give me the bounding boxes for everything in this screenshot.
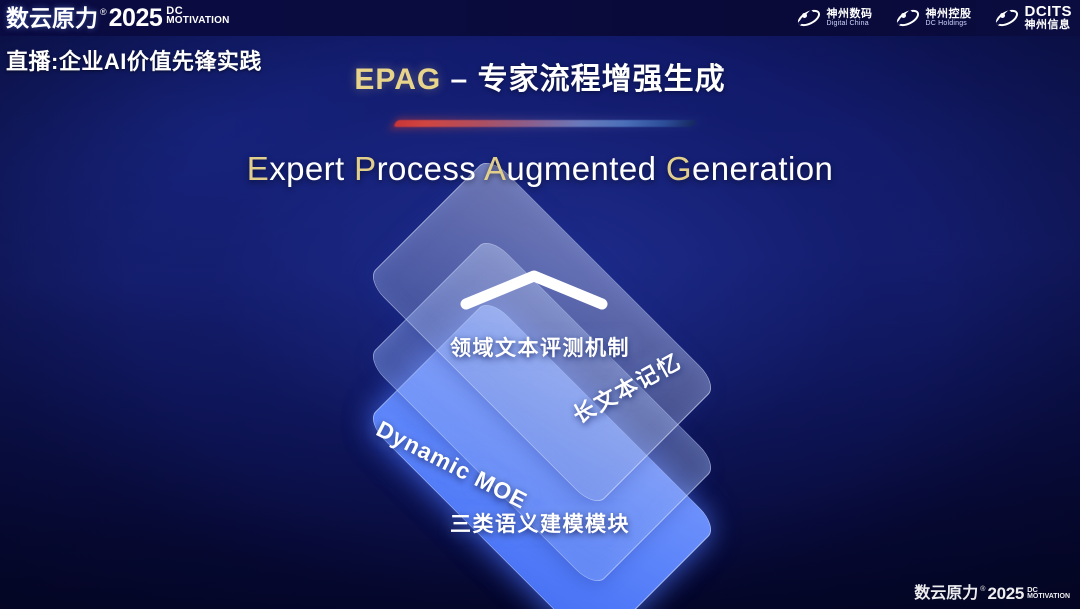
chevron-up-icon [460,268,608,310]
subtitle-rest-process: rocess [377,150,477,187]
subtitle-rest-augmented: ugmented [506,150,656,187]
swoosh-logo-icon [895,7,921,29]
partner-dc-holdings: 神州控股 DC Holdings [895,7,972,29]
partner-name-cn: 神州信息 [1025,20,1073,32]
brand-name-cn: 数云原力 [6,4,98,32]
divider [393,120,697,127]
slide-canvas: 数云原力 ® 2025 DC MOTIVATION 直播:企业AI价值先锋实践 … [0,0,1080,609]
brand-logo: 数云原力 ® 2025 DC MOTIVATION [6,4,230,32]
partner-digital-china: 神州数码 Digital China [796,7,873,29]
subtitle-rest-generation: eneration [692,150,833,187]
subtitle-cap-g: G [666,150,692,187]
swoosh-logo-icon [994,7,1020,29]
subtitle-cap-a: A [484,150,506,187]
watermark-name-cn: 数云原力 [914,584,978,603]
layer-label-top: 领域文本评测机制 [0,332,1080,362]
partner-label: 神州数码 Digital China [827,9,873,28]
partner-label: DCITS 神州信息 [1025,4,1073,31]
partner-logo-row: 神州数码 Digital China 神州控股 DC Holdings [796,2,1073,34]
swoosh-logo-icon [796,7,822,29]
watermark-dc-text: DC [1027,586,1070,593]
partner-name-en: Digital China [827,20,873,27]
brand-block: 数云原力 ® 2025 DC MOTIVATION 直播:企业AI价值先锋实践 [0,0,320,92]
headline-title-cn: 专家流程增强生成 [478,63,726,96]
brand-subtitle: 直播:企业AI价值先锋实践 [6,44,262,76]
watermark-motivation-text: MOTIVATION [1027,593,1070,600]
partner-dcits: DCITS 神州信息 [994,4,1073,31]
partner-label: 神州控股 DC Holdings [926,9,972,28]
watermark-year: 2025 [987,584,1024,603]
subtitle-english: Expert Process Augmented Generation [0,150,1080,188]
watermark-dc-motivation: DC MOTIVATION [1027,586,1070,600]
headline-acronym: EPAG [354,63,441,96]
brand-registered-mark: ® [100,6,107,18]
watermark-registered-mark: ® [980,585,985,594]
subtitle-cap-e: E [247,150,269,187]
partner-name-en: DC Holdings [926,20,972,27]
headline-dash: – [441,63,477,96]
partner-name-cn: 神州控股 [926,9,972,21]
subtitle-rest-expert: xpert [269,150,344,187]
partner-name-en: DCITS [1025,4,1073,20]
brand-dc-motivation: DC MOTIVATION [166,6,229,26]
brand-year: 2025 [109,4,163,32]
partner-name-cn: 神州数码 [827,9,873,21]
layer-label-bottom: 三类语义建模模块 [0,508,1080,538]
watermark-logo: 数云原力 ® 2025 DC MOTIVATION [914,584,1070,603]
brand-motivation-text: MOTIVATION [166,16,229,26]
subtitle-cap-p: P [354,150,376,187]
